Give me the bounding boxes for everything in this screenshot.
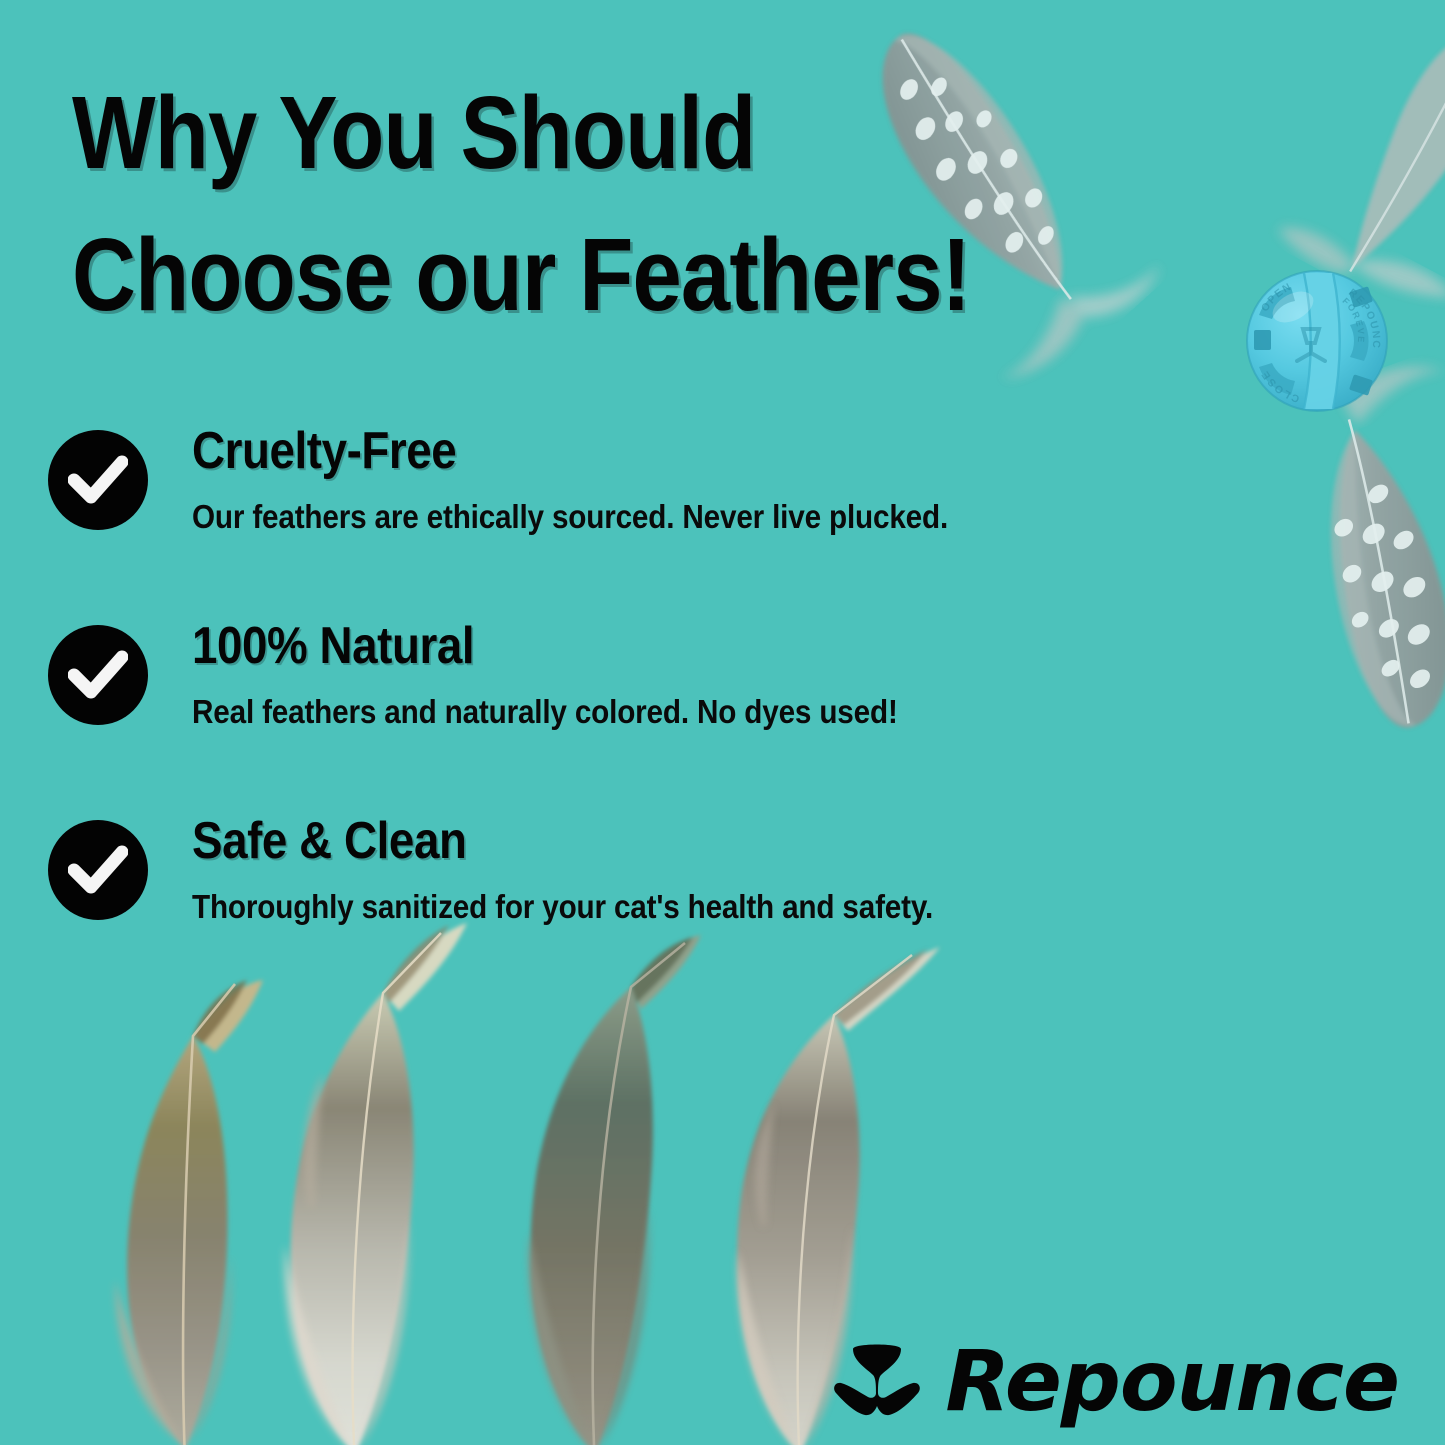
headline-line-2: Choose our Feathers! (72, 204, 846, 346)
feature-item-cruelty-free: Cruelty-Free Our feathers are ethically … (48, 424, 978, 619)
svg-text:REPOUNCE.COM: REPOUNCE.COM (1312, 286, 1382, 349)
feature-description: Our feathers are ethically sourced. Neve… (192, 499, 894, 535)
feature-item-100-natural: 100% Natural Real feathers and naturally… (48, 619, 978, 814)
feature-body: Safe & Clean Thoroughly sanitized for yo… (192, 814, 972, 925)
headline-line-1: Why You Should (72, 62, 846, 204)
feature-body: 100% Natural Real feathers and naturally… (192, 619, 972, 730)
feature-item-safe-clean: Safe & Clean Thoroughly sanitized for yo… (48, 814, 978, 1009)
page-title: Why You Should Choose our Feathers! (72, 62, 972, 346)
check-icon (48, 625, 148, 725)
feature-title: 100% Natural (192, 619, 878, 674)
check-icon (48, 820, 148, 920)
feature-description: Thoroughly sanitized for your cat's heal… (192, 889, 894, 925)
feature-title: Cruelty-Free (192, 424, 878, 479)
poster-canvas: OPEN CLOSE REPOUNCE.COM FOREVER PREY (0, 0, 1445, 1445)
feature-title: Safe & Clean (192, 814, 878, 869)
brand-logo: Repounce (829, 1339, 1399, 1423)
svg-text:CLOSE: CLOSE (1259, 368, 1302, 405)
cat-whisker-logo-icon (829, 1339, 925, 1423)
feature-list: Cruelty-Free Our feathers are ethically … (48, 424, 978, 1009)
svg-text:FOREVER PREY: FOREVER PREY (1313, 296, 1366, 344)
brand-name: Repounce (945, 1339, 1399, 1423)
check-icon (48, 430, 148, 530)
feature-description: Real feathers and naturally colored. No … (192, 694, 894, 730)
svg-text:OPEN: OPEN (1259, 280, 1294, 314)
feature-body: Cruelty-Free Our feathers are ethically … (192, 424, 972, 535)
